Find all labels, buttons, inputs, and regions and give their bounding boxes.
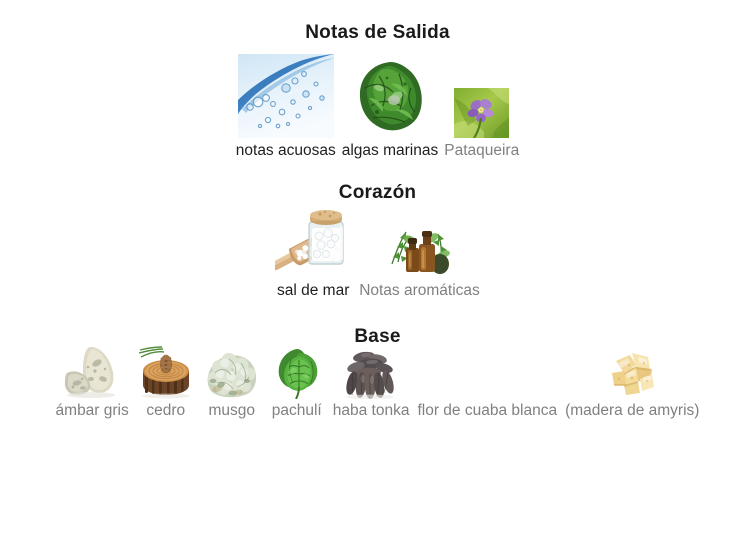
seaweed-image[interactable] [351, 54, 429, 138]
fragrance-pyramid: Notas de Salida [0, 0, 755, 534]
note-label: Notas aromáticas [359, 281, 480, 300]
aromatic-oils-image[interactable] [386, 220, 452, 278]
patchouli-leaf-image[interactable] [269, 343, 325, 399]
water-drops-image[interactable] [238, 54, 334, 138]
notes-row-top: notas acuosas [0, 56, 755, 160]
notes-row-base: ámbar gris [0, 358, 755, 420]
note-item-pachuli[interactable]: pachulí [269, 343, 325, 420]
notes-row-heart: sal de mar [0, 214, 755, 300]
cedar-wood-image[interactable] [137, 343, 195, 399]
note-label: notas acuosas [236, 141, 336, 160]
note-label: flor de cuaba blanca [417, 401, 557, 420]
note-label: pachulí [272, 401, 322, 420]
note-label: haba tonka [333, 401, 410, 420]
moss-image[interactable] [203, 343, 261, 399]
note-item-sal-de-mar[interactable]: sal de mar [275, 198, 351, 300]
note-label: musgo [208, 401, 255, 420]
note-item-algas-marinas[interactable]: algas marinas [342, 54, 439, 160]
section-top-notes: Notas de Salida [0, 0, 755, 160]
note-item-pataqueira[interactable]: Pataqueira [444, 88, 519, 160]
section-base-notes: Base [0, 300, 755, 420]
note-label: cedro [146, 401, 185, 420]
note-label: Pataqueira [444, 141, 519, 160]
note-item-haba-tonka[interactable]: haba tonka [333, 343, 410, 420]
note-item-cedro[interactable]: cedro [137, 343, 195, 420]
tonka-bean-image[interactable] [342, 343, 400, 399]
note-item-flor-de-cuaba-blanca[interactable]: flor de cuaba blanca [417, 343, 557, 420]
section-title-base-notes: Base [0, 300, 755, 348]
note-label: (madera de amyris) [565, 401, 699, 420]
sea-salt-jar-image[interactable] [275, 198, 351, 278]
note-label: ámbar gris [56, 401, 129, 420]
ambergris-stone-image[interactable] [61, 343, 123, 399]
note-item-madera-de-amyris[interactable]: (madera de amyris) [565, 343, 699, 420]
note-item-notas-acuosas[interactable]: notas acuosas [236, 54, 336, 160]
note-item-ambar-gris[interactable]: ámbar gris [56, 343, 129, 420]
note-label: sal de mar [277, 281, 349, 300]
amyris-resin-image[interactable] [602, 343, 662, 399]
note-item-notas-aromaticas[interactable]: Notas aromáticas [359, 220, 480, 300]
pataqueira-flower-image[interactable] [454, 88, 509, 138]
note-item-musgo[interactable]: musgo [203, 343, 261, 420]
note-label: algas marinas [342, 141, 439, 160]
section-heart-notes: Corazón [0, 160, 755, 300]
section-title-top-notes: Notas de Salida [0, 0, 755, 44]
section-title-heart-notes: Corazón [0, 160, 755, 204]
